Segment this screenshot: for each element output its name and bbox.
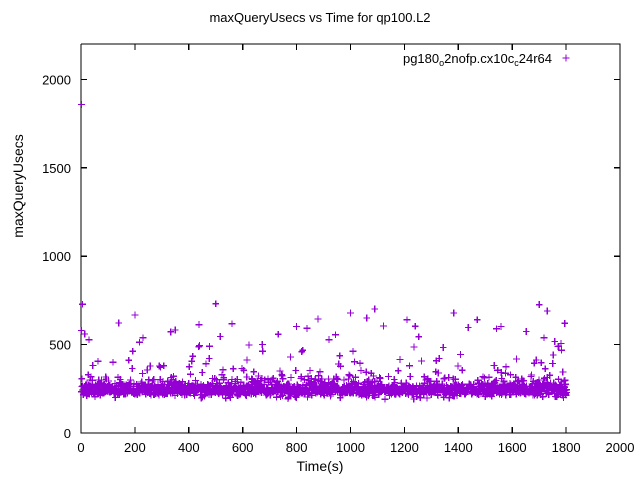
x-tick-label: 1600 [498,440,527,455]
legend-label: pg180o2nofp.cx10cc24r64 [403,51,552,68]
y-tick-label: 500 [49,338,71,353]
y-tick-label: 2000 [42,72,71,87]
x-tick-label: 200 [124,440,146,455]
y-tick-label: 1500 [42,161,71,176]
y-tick-label: 0 [64,426,71,441]
x-tick-label: 1000 [336,440,365,455]
scatter-points [78,101,570,403]
chart-container: maxQueryUsecs vs Time for qp100.L2 maxQu… [0,0,640,480]
x-tick-label: 2000 [606,440,635,455]
x-tick-label: 1200 [390,440,419,455]
x-tick-label: 400 [178,440,200,455]
legend[interactable]: pg180o2nofp.cx10cc24r64 [348,44,601,68]
x-tick-label: 800 [286,440,308,455]
x-tick-label: 0 [77,440,84,455]
x-tick-label: 600 [232,440,254,455]
y-tick-label: 1000 [42,249,71,264]
plot-canvas: 0200400600800100012001400160018002000 05… [0,0,640,480]
x-tick-label: 1400 [444,440,473,455]
x-tick-label: 1800 [552,440,581,455]
